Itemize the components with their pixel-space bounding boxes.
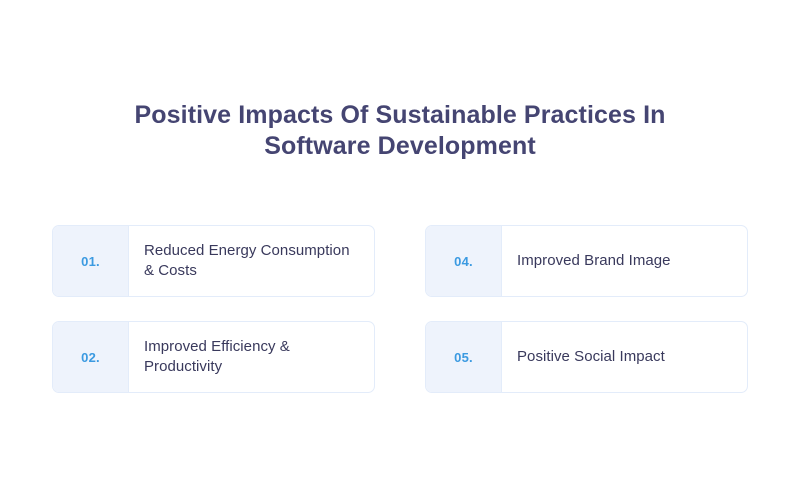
card-number: 02. xyxy=(81,350,100,365)
page-title-line-2: Software Development xyxy=(100,131,700,162)
card-number: 04. xyxy=(454,254,473,269)
impact-card[interactable]: 04. Improved Brand Image xyxy=(425,225,748,297)
card-label: Improved Efficiency & Productivity xyxy=(144,337,360,377)
impact-card[interactable]: 05. Positive Social Impact xyxy=(425,321,748,393)
card-label: Positive Social Impact xyxy=(517,347,665,367)
page-title-line-1: Positive Impacts Of Sustainable Practice… xyxy=(100,100,700,131)
card-body: Improved Brand Image xyxy=(502,226,747,296)
card-number: 05. xyxy=(454,350,473,365)
card-number-panel: 01. xyxy=(53,226,129,296)
card-number-panel: 02. xyxy=(53,322,129,392)
card-number: 01. xyxy=(81,254,100,269)
card-body: Positive Social Impact xyxy=(502,322,747,392)
card-body: Reduced Energy Consumption & Costs xyxy=(129,226,374,296)
impact-card[interactable]: 02. Improved Efficiency & Productivity xyxy=(52,321,375,393)
card-label: Reduced Energy Consumption & Costs xyxy=(144,241,360,281)
impact-card[interactable]: 01. Reduced Energy Consumption & Costs xyxy=(52,225,375,297)
impact-card-grid: 01. Reduced Energy Consumption & Costs 0… xyxy=(52,225,748,393)
card-body: Improved Efficiency & Productivity xyxy=(129,322,374,392)
card-label: Improved Brand Image xyxy=(517,251,671,271)
slide-canvas: Positive Impacts Of Sustainable Practice… xyxy=(0,0,800,498)
card-number-panel: 05. xyxy=(426,322,502,392)
page-title: Positive Impacts Of Sustainable Practice… xyxy=(100,100,700,162)
card-number-panel: 04. xyxy=(426,226,502,296)
